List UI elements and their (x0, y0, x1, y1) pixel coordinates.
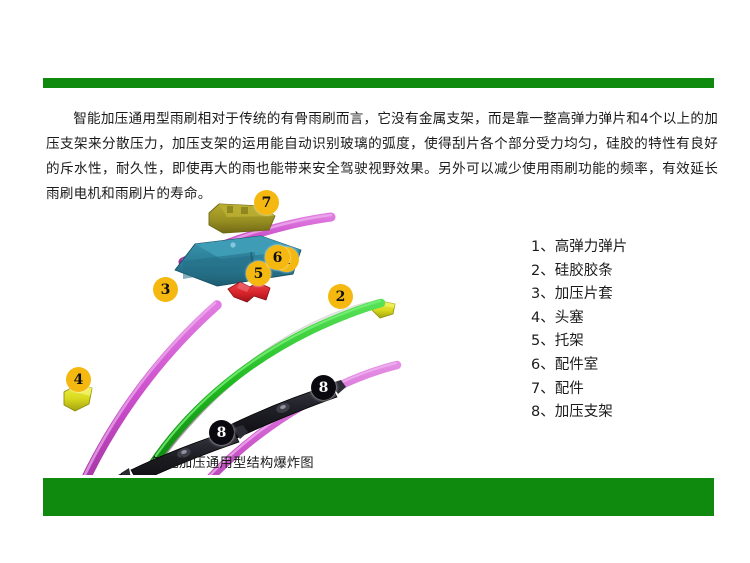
legend-item-index: 5、 (531, 333, 555, 349)
legend-item-1: 1、高弹力弹片 (531, 236, 731, 260)
legend-item-index: 8、 (531, 404, 555, 420)
callout-badge-3[interactable]: 3 (153, 277, 178, 302)
callout-badge-7[interactable]: 7 (254, 190, 279, 215)
legend-item-label: 托架 (555, 333, 584, 349)
callout-badge-label: 8 (217, 426, 227, 440)
legend-item-index: 3、 (531, 286, 555, 302)
legend-item-index: 2、 (531, 263, 555, 279)
legend-item-index: 6、 (531, 357, 555, 373)
legend-item-3: 3、加压片套 (531, 283, 731, 307)
callout-badge-label: 3 (161, 283, 171, 297)
legend-item-5: 5、托架 (531, 330, 731, 354)
callout-badge-6[interactable]: 6 (265, 245, 290, 270)
legend-item-6: 6、配件室 (531, 354, 731, 378)
legend-item-label: 加压片套 (555, 286, 613, 302)
legend-item-8: 8、加压支架 (531, 401, 731, 425)
legend-item-index: 1、 (531, 239, 555, 255)
callout-badge-label: 8 (319, 381, 329, 395)
callout-badge-label: 5 (254, 267, 264, 281)
page-root: 智能加压通用型雨刷相对于传统的有骨雨刷而言，它没有金属支架，而是靠一整高弹力弹片… (0, 0, 750, 563)
part-bracket (228, 282, 270, 302)
callout-badge-label: 6 (273, 251, 283, 265)
exploded-view-diagram (45, 185, 465, 475)
callout-badge-label: 2 (336, 290, 346, 304)
legend-item-7: 7、配件 (531, 378, 731, 402)
legend-item-label: 硅胶胶条 (555, 263, 613, 279)
legend-item-label: 加压支架 (555, 404, 613, 420)
parts-legend: 1、高弹力弹片 2、硅胶胶条 3、加压片套 4、头塞 5、托架 6、配件室 7、… (531, 236, 731, 425)
legend-item-index: 7、 (531, 381, 555, 397)
diagram-caption: 智能加压通用型结构爆炸图 (113, 452, 353, 471)
divider-top (43, 78, 714, 88)
callout-badge-label: 7 (262, 196, 272, 210)
callout-badge-8-right[interactable]: 8 (311, 375, 336, 400)
callout-badge-4[interactable]: 4 (66, 367, 91, 392)
legend-item-label: 高弹力弹片 (555, 239, 628, 255)
callout-badge-8-left[interactable]: 8 (209, 420, 234, 445)
legend-item-label: 配件 (555, 381, 584, 397)
legend-item-index: 4、 (531, 310, 555, 326)
legend-item-2: 2、硅胶胶条 (531, 260, 731, 284)
legend-item-label: 头塞 (555, 310, 584, 326)
callout-badge-2[interactable]: 2 (328, 284, 353, 309)
divider-bottom (43, 478, 714, 516)
callout-badge-label: 4 (74, 373, 84, 387)
legend-item-label: 配件室 (555, 357, 599, 373)
legend-item-4: 4、头塞 (531, 307, 731, 331)
